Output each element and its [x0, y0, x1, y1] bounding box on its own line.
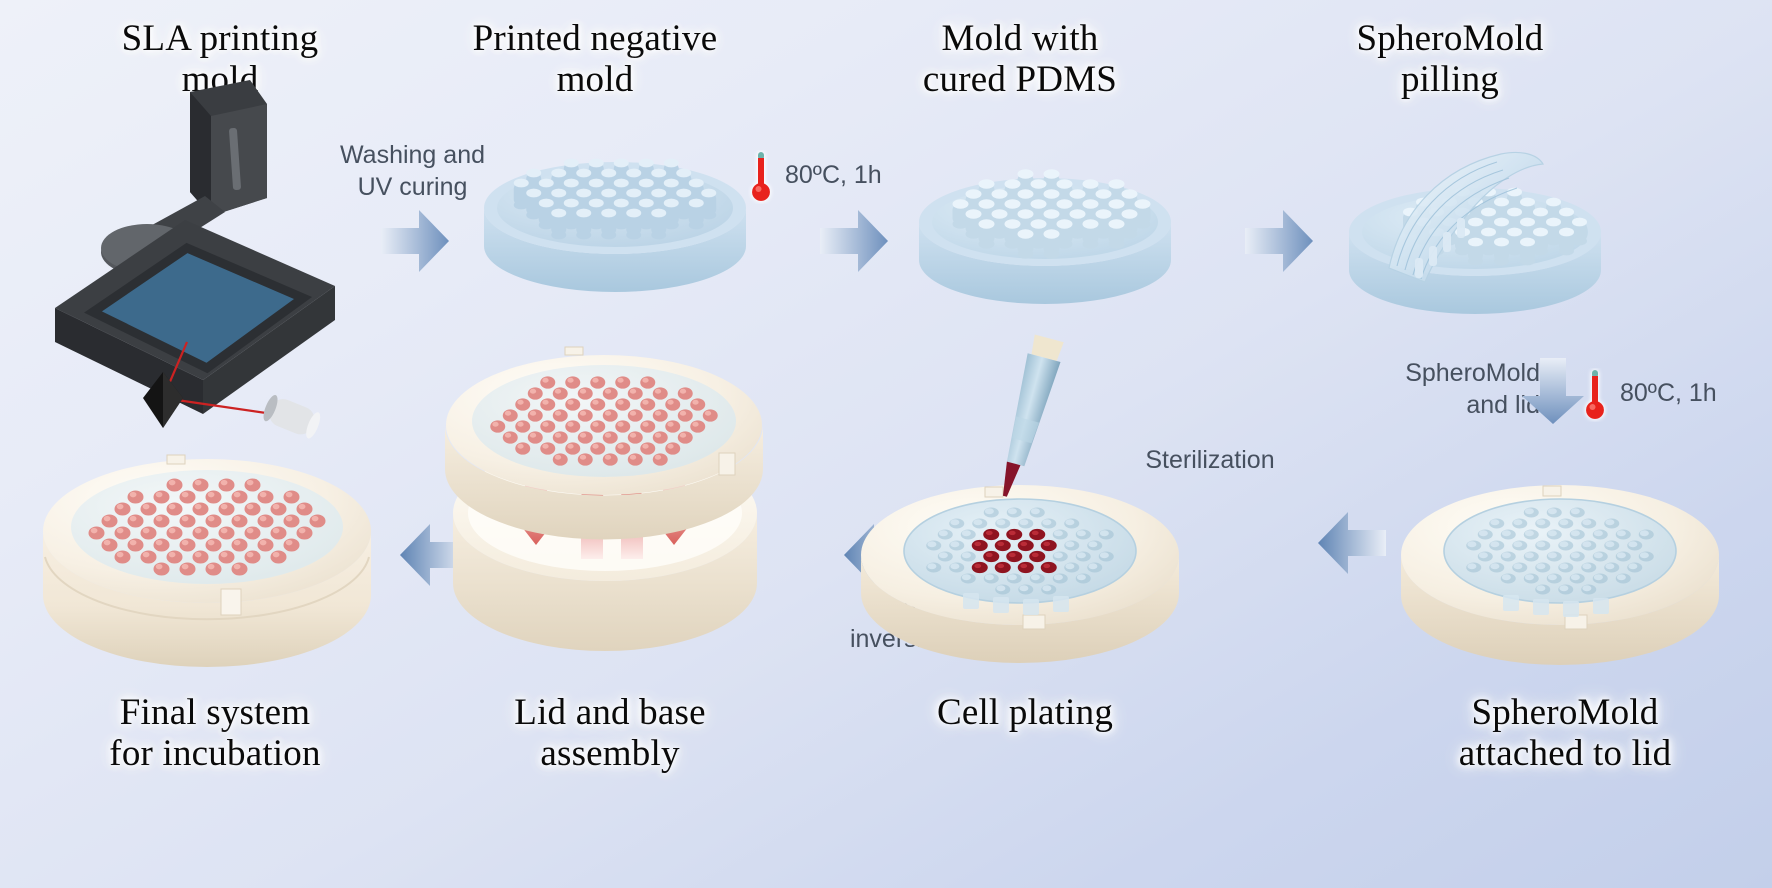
step-title-spheromold-pilling: SpheroMold pilling [1290, 18, 1610, 101]
process-label-bake-2: 80ºC, 1h [1620, 378, 1750, 410]
illustration-spheromold-pilling [1345, 148, 1615, 328]
illustration-mold-with-cured-pdms [915, 168, 1175, 318]
illustration-final-system-for-incubation [35, 435, 380, 685]
arrow-right-step3-to-step4 [1245, 210, 1313, 272]
workflow-diagram: SLA printing mold Printed negative mold … [0, 0, 1772, 888]
step-title-spheromold-attached-lid: SpheroMold attached to lid [1400, 692, 1730, 775]
illustration-printed-negative-mold [480, 150, 750, 310]
illustration-sla-printer [35, 80, 365, 390]
step-title-lid-and-base-assembly: Lid and base assembly [450, 692, 770, 775]
process-label-bake-1: 80ºC, 1h [785, 160, 915, 192]
step-title-final-system-incubation: Final system for incubation [50, 692, 380, 775]
process-label-spheromold-and-lid: SpheroMold and lid [1375, 358, 1540, 421]
thermometer-icon [748, 150, 774, 204]
illustration-lid-and-base-assembly [425, 345, 785, 675]
arrow-left-step5-to-step6 [1318, 512, 1386, 574]
arrow-down-step4-to-step5 [1522, 358, 1584, 424]
arrow-right-step2-to-step3 [820, 210, 888, 272]
arrow-right-step1-to-step2 [381, 210, 449, 272]
illustration-cell-plating [855, 335, 1185, 665]
step-title-cell-plating: Cell plating [865, 692, 1185, 733]
step-title-mold-with-cured-pdms: Mold with cured PDMS [860, 18, 1180, 101]
thermometer-icon [1582, 368, 1608, 422]
step-title-printed-negative-mold: Printed negative mold [430, 18, 760, 101]
illustration-spheromold-attached-to-lid [1395, 455, 1725, 665]
